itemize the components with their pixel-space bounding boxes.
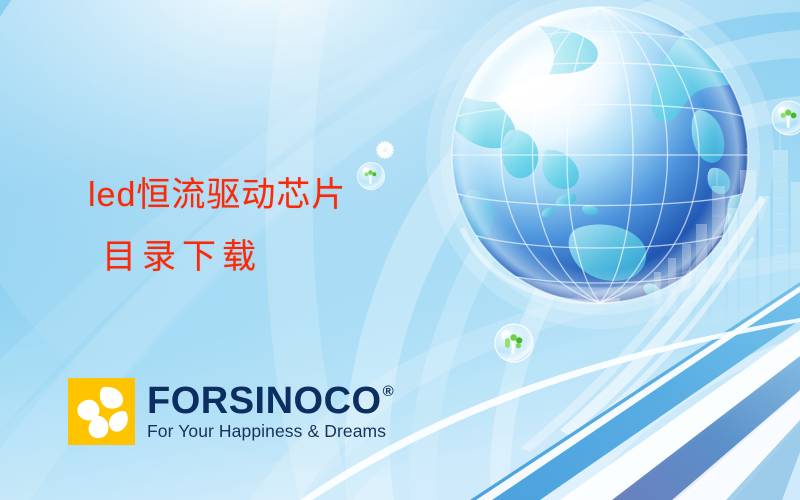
bubble-windmill-left	[358, 163, 385, 190]
headline-line-1: led恒流驱动芯片	[88, 176, 346, 214]
brand-tagline: For Your Happiness & Dreams	[147, 421, 394, 441]
banner-canvas: led恒流驱动芯片 目录下载 FORSINOCO ® For Your Hap	[0, 0, 800, 500]
headline-line-2: 目录下载	[88, 226, 346, 288]
headline-text: led恒流驱动芯片 目录下载	[88, 164, 346, 288]
brand-logo[interactable]: FORSINOCO ® For Your Happiness & Dreams	[68, 378, 394, 445]
registered-trademark-icon: ®	[383, 384, 395, 399]
logo-wordmark: FORSINOCO ® For Your Happiness & Dreams	[147, 382, 394, 441]
bubble-windmill-right	[772, 101, 800, 135]
bubble-windmill-bottom	[495, 324, 533, 362]
logo-mark-icon	[68, 378, 135, 445]
brand-name-text: FORSINOCO	[147, 382, 382, 420]
brand-name: FORSINOCO ®	[147, 382, 394, 420]
